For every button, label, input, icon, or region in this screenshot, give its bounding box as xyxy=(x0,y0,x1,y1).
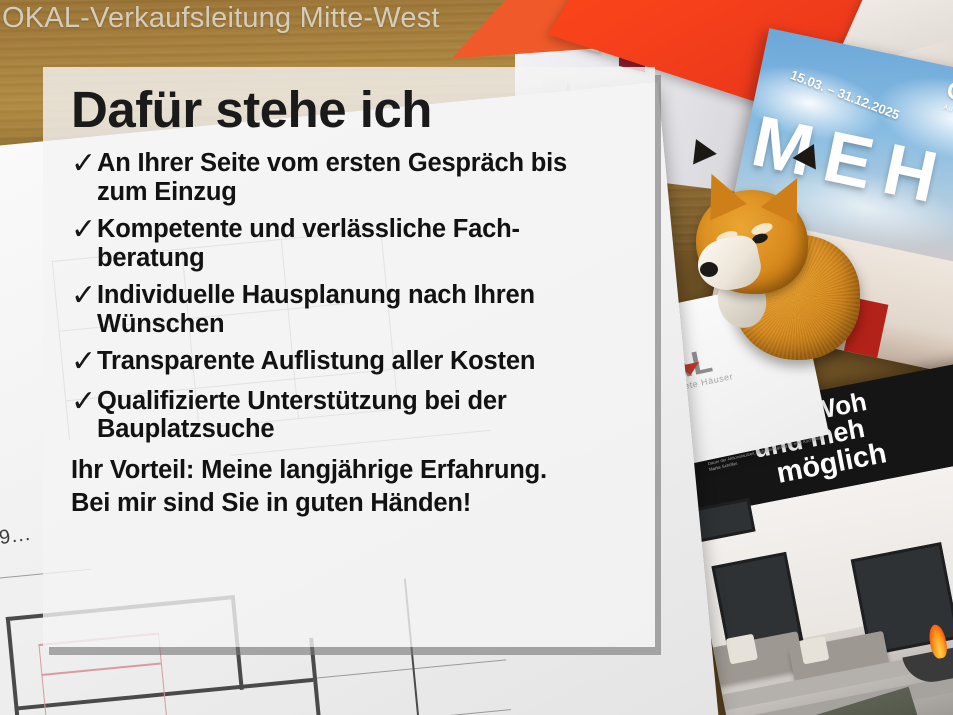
list-item: ✓ Transparente Auflistung aller Kosten xyxy=(57,347,633,378)
fox-head xyxy=(696,190,808,294)
cushion xyxy=(726,634,758,665)
list-item: ✓ Qualifizierte Unterstützung bei der Ba… xyxy=(57,387,633,444)
closing-line-2: Bei mir sind Sie in guten Händen! xyxy=(71,487,633,520)
card-heading: Dafür stehe ich xyxy=(71,83,633,137)
list-item-label: Transparente Auflistung aller Kosten xyxy=(97,347,535,376)
checkmark-icon: ✓ xyxy=(57,149,97,180)
checkmark-icon: ✓ xyxy=(57,387,97,418)
closing-line-1: Ihr Vorteil: Meine langjährige Erfahrung… xyxy=(71,454,633,487)
list-item-label: Qualifizierte Unterstützung bei der Baup… xyxy=(97,387,617,444)
cushion xyxy=(799,636,829,665)
benefits-list: ✓ An Ihrer Seite vom ersten Gespräch bis… xyxy=(57,149,633,444)
list-item-label: Kompetente und verlässliche Fach-beratun… xyxy=(97,215,617,272)
list-item-label: An Ihrer Seite vom ersten Gespräch bis z… xyxy=(97,149,617,206)
fox-plush-toy xyxy=(690,180,860,365)
page-title: OKAL-Verkaufsleitung Mitte-West xyxy=(2,2,440,35)
checkmark-icon: ✓ xyxy=(57,215,97,246)
checkmark-icon: ✓ xyxy=(57,281,97,312)
list-item-label: Individuelle Hausplanung nach Ihren Wüns… xyxy=(97,281,617,338)
closing-statement: Ihr Vorteil: Meine langjährige Erfahrung… xyxy=(71,454,633,520)
checkmark-icon: ✓ xyxy=(57,347,97,378)
list-item: ✓ Kompetente und verlässliche Fach-berat… xyxy=(57,215,633,272)
list-item: ✓ Individuelle Hausplanung nach Ihren Wü… xyxy=(57,281,633,338)
list-item: ✓ An Ihrer Seite vom ersten Gespräch bis… xyxy=(57,149,633,206)
fox-nose xyxy=(700,262,718,277)
content-card: Dafür stehe ich ✓ An Ihrer Seite vom ers… xyxy=(43,67,655,647)
blueprint-drawing-number: 1368-3000 9... xyxy=(0,523,32,567)
